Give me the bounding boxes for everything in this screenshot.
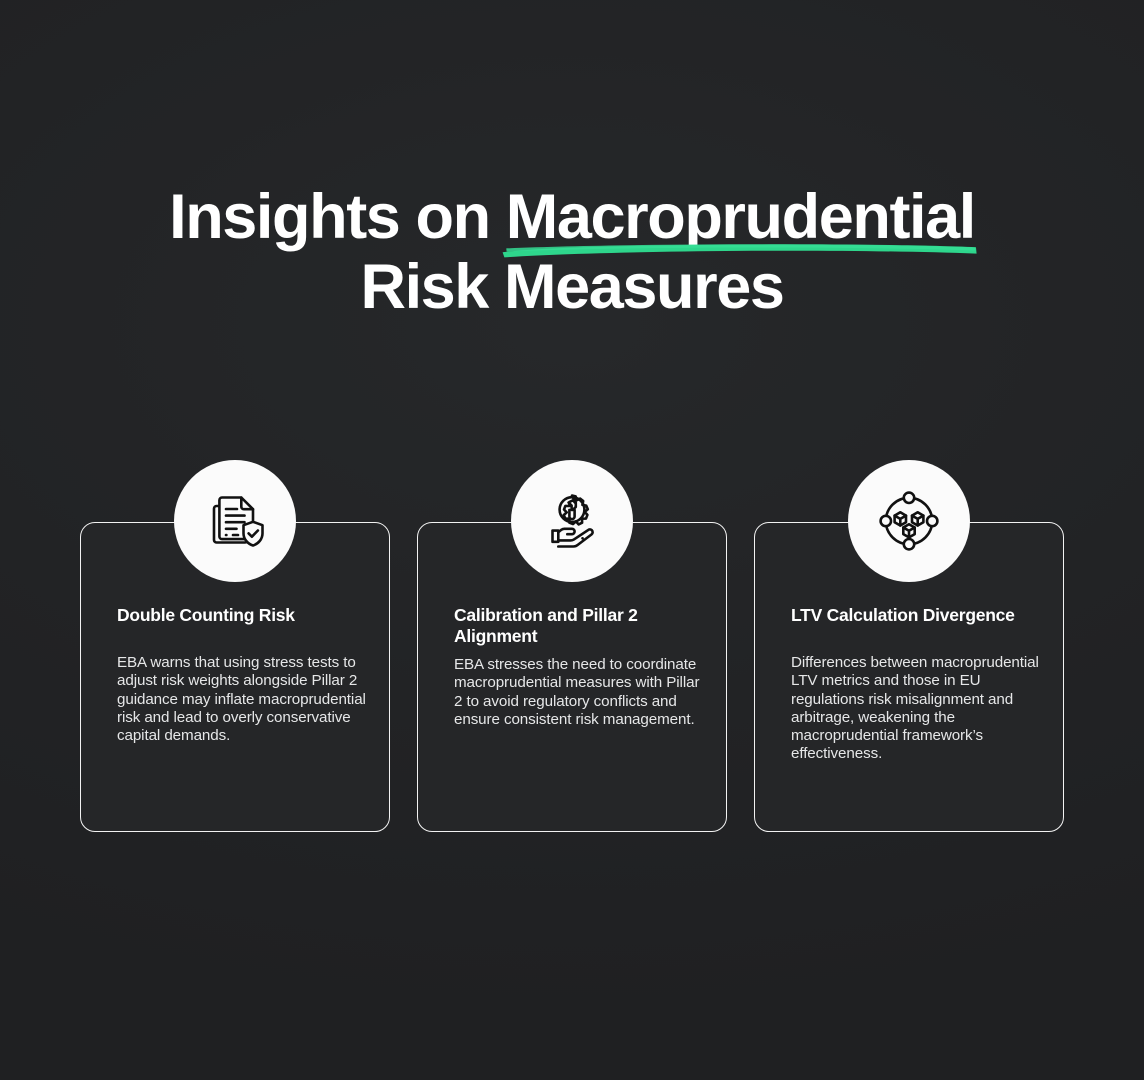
insight-card-double-counting-risk[interactable]: Double Counting Risk EBA warns that usin… — [80, 522, 390, 832]
document-shield-check-icon — [174, 460, 296, 582]
insight-card-ltv-calculation-divergence[interactable]: LTV Calculation Divergence Differences b… — [754, 522, 1064, 832]
infographic-canvas: Insights on Macroprudential Risk Measure… — [0, 0, 1144, 1080]
card-description: EBA stresses the need to coordinate macr… — [454, 656, 704, 729]
card-description: Differences between macroprudential LTV … — [791, 654, 1041, 764]
card-title: LTV Calculation Divergence — [791, 605, 1041, 626]
insight-cards-row: Double Counting Risk EBA warns that usin… — [80, 522, 1064, 832]
title-highlight-text: Macroprudential — [506, 182, 975, 252]
title-highlight-wrap: Macroprudential — [506, 182, 975, 252]
card-content: LTV Calculation Divergence Differences b… — [791, 605, 1041, 764]
title-prefix: Insights on — [169, 182, 506, 252]
network-cubes-icon — [848, 460, 970, 582]
card-title: Calibration and Pillar 2 Alignment — [454, 605, 704, 647]
card-description: EBA warns that using stress tests to adj… — [117, 654, 367, 745]
title-line-1: Insights on Macroprudential — [0, 182, 1144, 252]
page-title: Insights on Macroprudential Risk Measure… — [0, 182, 1144, 322]
card-title: Double Counting Risk — [117, 605, 367, 626]
card-content: Double Counting Risk EBA warns that usin… — [117, 605, 367, 745]
hand-gear-wrench-icon — [511, 460, 633, 582]
card-content: Calibration and Pillar 2 Alignment EBA s… — [454, 605, 704, 729]
insight-card-calibration-pillar2-alignment[interactable]: Calibration and Pillar 2 Alignment EBA s… — [417, 522, 727, 832]
title-line-2: Risk Measures — [0, 252, 1144, 322]
